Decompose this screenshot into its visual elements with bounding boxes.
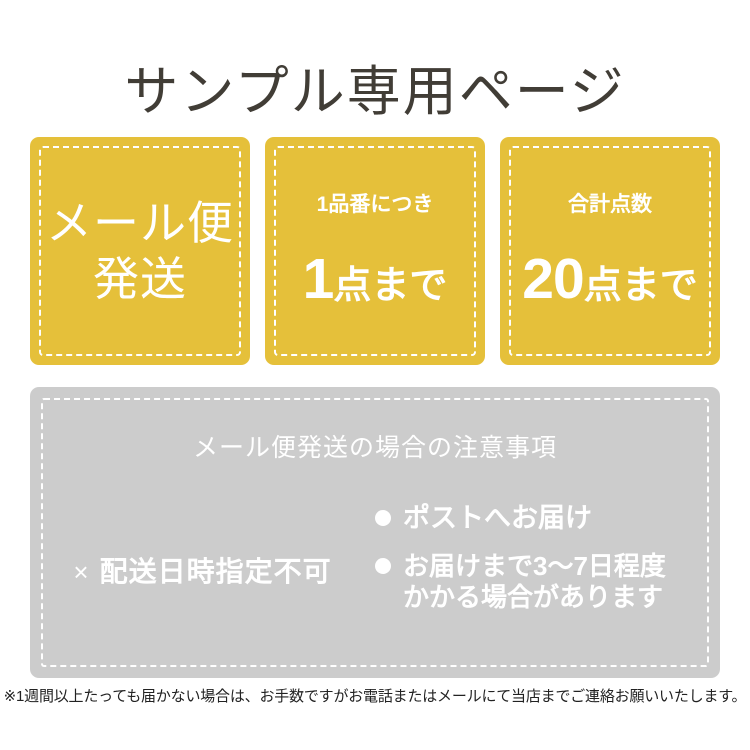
card-per-item-limit-caption: 1品番につき (317, 194, 434, 215)
list-item: お届けまで3〜7日程度 かかる場合があります (375, 551, 720, 612)
notice-no-date-designation: ×配送日時指定不可 (73, 558, 331, 586)
card-shipping-method-line-2: 発送 (93, 251, 187, 307)
card-total-limit-number: 20 (522, 251, 583, 308)
card-total-limit: 合計点数 20 点まで (500, 137, 720, 365)
notice-bullet-delivery-time-line-1: お届けまで3〜7日程度 (403, 551, 666, 581)
card-per-item-limit-content: 1品番につき 1 点まで (265, 137, 485, 365)
notice-left-column: ×配送日時指定不可 (30, 497, 375, 647)
notice-right-column: ポストへお届け お届けまで3〜7日程度 かかる場合があります (375, 497, 720, 612)
page-title: サンプル専用ページ (0, 62, 750, 121)
card-per-item-limit-value: 1 点まで (303, 251, 448, 308)
bullet-dot-icon (375, 510, 391, 526)
card-per-item-limit-unit: 点まで (333, 267, 447, 305)
list-item: ポストへお届け (375, 503, 720, 535)
card-shipping-method-content: メール便 発送 (30, 137, 250, 365)
card-total-limit-caption: 合計点数 (568, 194, 652, 215)
notice-no-date-designation-label: 配送日時指定不可 (100, 556, 332, 587)
notice-heading: メール便発送の場合の注意事項 (30, 436, 720, 461)
notice-panel: メール便発送の場合の注意事項 ×配送日時指定不可 ポストへお届け お届けまで3〜… (30, 387, 720, 678)
notice-body: ×配送日時指定不可 ポストへお届け お届けまで3〜7日程度 かかる場合があります (30, 497, 720, 647)
card-total-limit-content: 合計点数 20 点まで (500, 137, 720, 365)
bullet-dot-icon (375, 558, 391, 574)
notice-bullet-delivery-to-post-line-1: ポストへお届け (403, 503, 592, 533)
notice-bullet-delivery-time-line-2: かかる場合があります (403, 582, 663, 612)
notice-bullet-delivery-time: お届けまで3〜7日程度 かかる場合があります (403, 551, 666, 612)
cross-mark-icon: × (73, 557, 89, 587)
card-per-item-limit: 1品番につき 1 点まで (265, 137, 485, 365)
card-total-limit-value: 20 点まで (522, 251, 697, 308)
card-per-item-limit-number: 1 (303, 251, 334, 308)
feature-cards-row: メール便 発送 1品番につき 1 点まで 合計点数 20 点まで (30, 137, 720, 365)
card-shipping-method: メール便 発送 (30, 137, 250, 365)
card-shipping-method-line-1: メール便 (46, 195, 234, 251)
notice-bullet-delivery-to-post: ポストへお届け (403, 503, 592, 535)
footnote-text: ※1週間以上たっても届かない場合は、お手数ですがお電話またはメールにて当店までご… (0, 688, 750, 706)
card-total-limit-unit: 点まで (584, 267, 698, 305)
